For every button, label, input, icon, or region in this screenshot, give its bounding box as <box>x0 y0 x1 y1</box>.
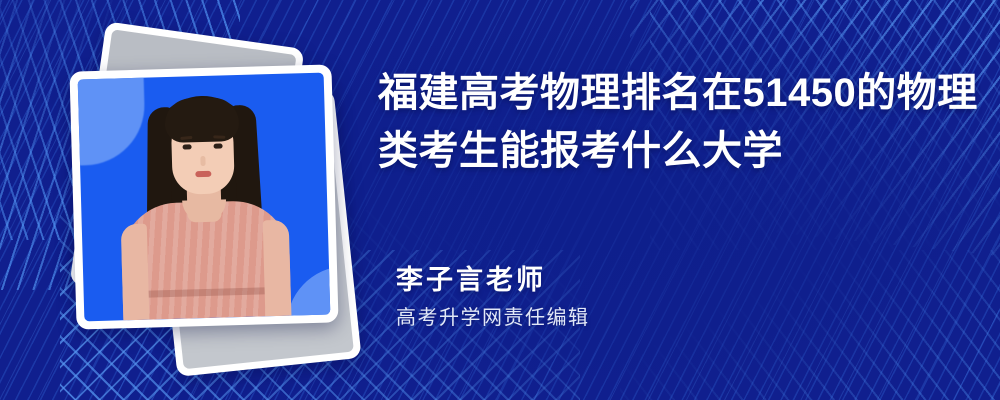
portrait-eye-right <box>214 143 223 148</box>
byline: 李子言老师 高考升学网责任编辑 <box>396 262 590 332</box>
portrait-eyebrow-right <box>213 135 225 138</box>
promo-banner: 福建高考物理排名在51450的物理 类考生能报考什么大学 李子言老师 高考升学网… <box>0 0 1000 400</box>
photo-card-main <box>69 64 338 329</box>
page-title-line-1: 福建高考物理排名在51450的物理 <box>378 64 958 122</box>
photo-card-stack <box>45 28 355 373</box>
page-title: 福建高考物理排名在51450的物理 类考生能报考什么大学 <box>378 64 958 180</box>
portrait-mouth <box>195 171 211 177</box>
portrait-eye-left <box>183 144 192 149</box>
banner-content: 福建高考物理排名在51450的物理 类考生能报考什么大学 李子言老师 高考升学网… <box>378 0 978 400</box>
portrait-arm-left <box>121 224 150 321</box>
portrait-figure <box>78 73 331 322</box>
portrait-arm-right <box>263 220 292 317</box>
author-name: 李子言老师 <box>396 262 590 298</box>
portrait-photo <box>78 73 331 322</box>
author-role: 高考升学网责任编辑 <box>396 304 590 332</box>
portrait-nose <box>200 156 205 166</box>
page-title-line-2: 类考生能报考什么大学 <box>378 122 958 180</box>
